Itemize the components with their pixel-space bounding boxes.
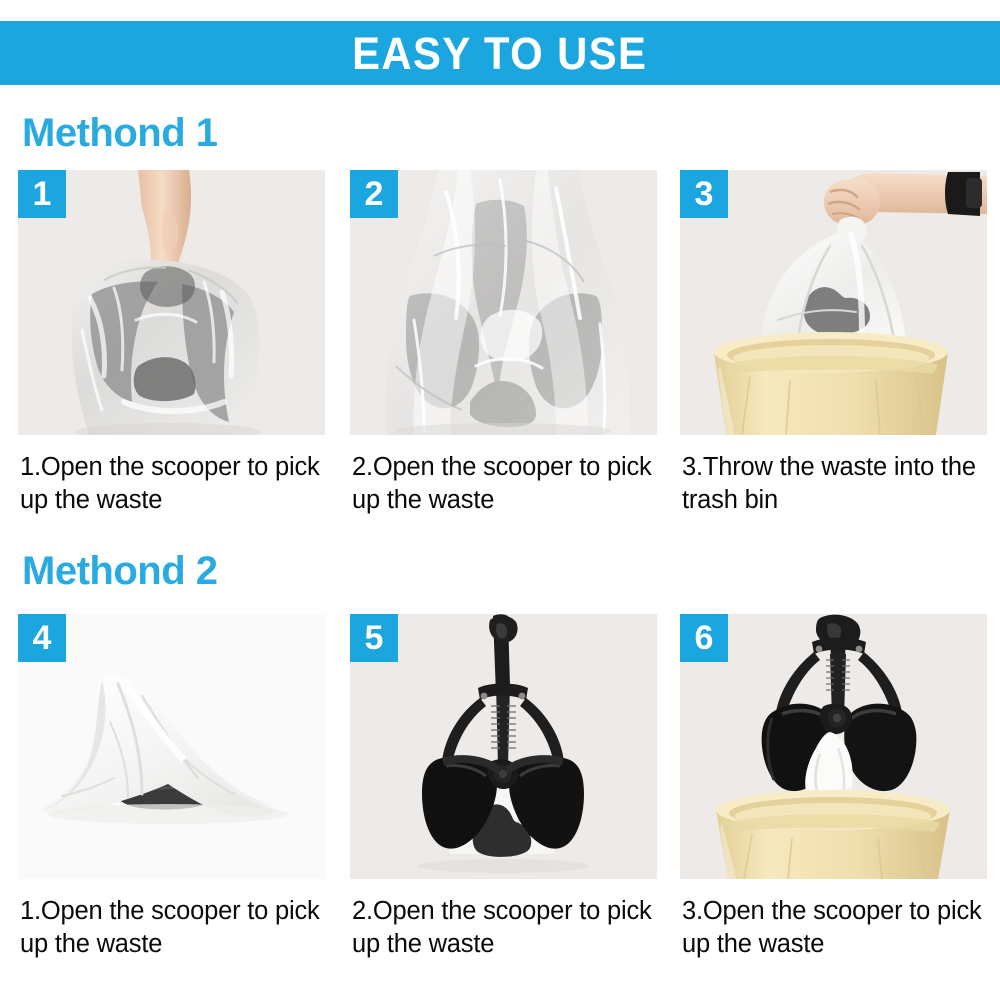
step-card-4: 4 1.Open the scooper to pick up the wast… — [18, 614, 325, 959]
step-card-2: 2 2.Open the scooper to pick up the wast… — [350, 170, 657, 515]
step-caption-3: 3.Throw the waste into the trash bin — [682, 451, 994, 516]
step-photo-5: 5 — [350, 614, 657, 879]
step-badge-6: 6 — [680, 614, 728, 662]
section-heading-method-2: Methond 2 — [22, 551, 217, 591]
step-photo-2: 2 — [350, 170, 657, 435]
step-badge-4: 4 — [18, 614, 66, 662]
step-photo-6: 6 — [680, 614, 987, 879]
header-banner: EASY TO USE — [0, 21, 1000, 85]
step-card-1: 1 1.Open the scooper to pick up the wast… — [18, 170, 325, 515]
method-2-steps-row: 4 1.Open the scooper to pick up the wast… — [0, 614, 1000, 959]
step-badge-5: 5 — [350, 614, 398, 662]
step-card-5: 5 2.Open the scooper to pick up the wast… — [350, 614, 657, 959]
step-badge-3: 3 — [680, 170, 728, 218]
step-photo-1: 1 — [18, 170, 325, 435]
step-caption-6: 3.Open the scooper to pick up the waste — [682, 895, 994, 960]
infographic-page: EASY TO USE Methond 1 — [0, 0, 1000, 1000]
step-caption-2: 2.Open the scooper to pick up the waste — [352, 451, 664, 516]
step-caption-1: 1.Open the scooper to pick up the waste — [20, 451, 332, 516]
step-photo-4: 4 — [18, 614, 325, 879]
step-card-3: 3 3.Throw the waste into the trash bin — [680, 170, 987, 515]
banner-title: EASY TO USE — [352, 31, 647, 76]
step-photo-3: 3 — [680, 170, 987, 435]
method-1-steps-row: 1 1.Open the scooper to pick up the wast… — [0, 170, 1000, 515]
step-caption-4: 1.Open the scooper to pick up the waste — [20, 895, 332, 960]
step-caption-5: 2.Open the scooper to pick up the waste — [352, 895, 664, 960]
step-card-6: 6 3.Open the scooper to pick up the wast… — [680, 614, 987, 959]
section-heading-method-1: Methond 1 — [22, 113, 217, 153]
step-badge-2: 2 — [350, 170, 398, 218]
step-badge-1: 1 — [18, 170, 66, 218]
